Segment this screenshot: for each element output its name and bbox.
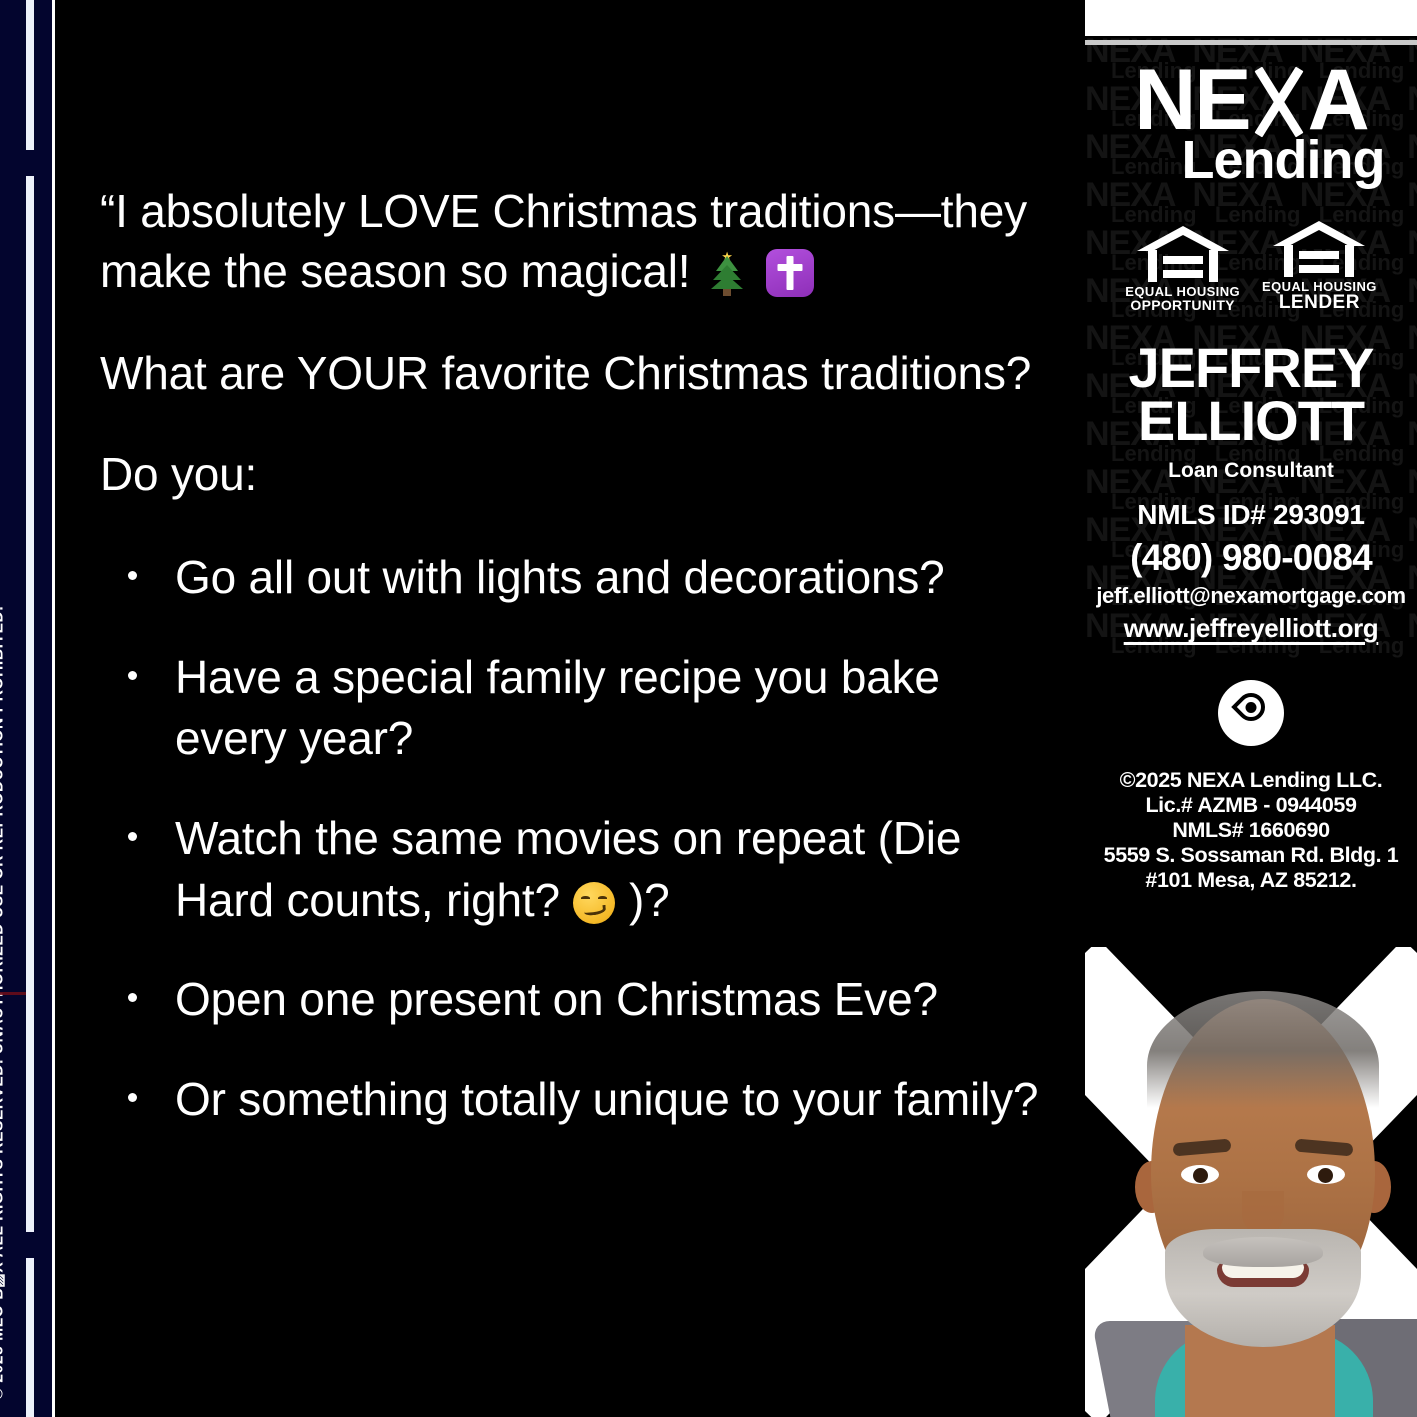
legal-line: ©2025 NEXA Lending LLC. (1085, 768, 1417, 793)
list-item: Have a special family recipe you bake ev… (100, 647, 1045, 770)
equal-housing-caption: EQUAL HOUSING OPPORTUNITY (1125, 285, 1240, 313)
logo-wordmark-ne: NE (1134, 52, 1249, 148)
eh-caption-line2: LENDER (1262, 293, 1377, 312)
cross-horizontal (777, 264, 802, 271)
copyright-text-wrap: © 2025 MLO B▨X ALL RIGHTS RESERVED. UNAU… (0, 0, 26, 1417)
location-pin-icon (1218, 680, 1284, 746)
smirk-eye-left (581, 896, 590, 900)
equal-housing-opportunity: EQUAL HOUSING OPPORTUNITY (1125, 226, 1240, 313)
post-prompt: Do you: (100, 445, 1045, 505)
list-item: Open one present on Christmas Eve? (100, 969, 1045, 1031)
legal-line: NMLS# 1660690 (1085, 818, 1417, 843)
eh-caption-line1: EQUAL HOUSING (1262, 280, 1377, 293)
logo-wordmark: NEA (1134, 62, 1368, 139)
rail-line-gap-bottom (26, 1232, 34, 1258)
agent-last-name: ELLIOTT (1085, 394, 1417, 447)
top-grey-line (1085, 40, 1417, 45)
list-item-text: Or something totally unique to your fami… (175, 1073, 1038, 1125)
list-item: Watch the same movies on repeat (Die Har… (100, 808, 1045, 931)
nexa-lending-logo: NEA Lending (1085, 62, 1417, 207)
agent-first-name: JEFFREY (1085, 341, 1417, 394)
bullet-dot-icon (128, 993, 137, 1002)
legal-block: ©2025 NEXA Lending LLC. Lic.# AZMB - 094… (1085, 768, 1417, 893)
agent-headshot (1085, 947, 1417, 1417)
list-item-text: Open one present on Christmas Eve? (175, 973, 938, 1025)
agent-nmls-id: NMLS ID# 293091 (1085, 499, 1417, 531)
tree-tier-bottom (711, 275, 743, 289)
copyright-text: © 2025 MLO B▨X ALL RIGHTS RESERVED. UNAU… (0, 605, 6, 1399)
cross-vertical (786, 256, 793, 290)
eh-equals-bottom (1299, 265, 1339, 273)
legal-line: #101 Mesa, AZ 85212. (1085, 868, 1417, 893)
eh-equals-bottom (1163, 270, 1203, 278)
tradition-options-list: Go all out with lights and decorations? … (100, 547, 1045, 1130)
list-item-text: Go all out with lights and decorations? (175, 551, 945, 603)
list-item: Or something totally unique to your fami… (100, 1069, 1045, 1131)
top-white-band (1085, 0, 1417, 36)
smirk-mouth (584, 905, 607, 916)
eh-equals-top (1163, 256, 1203, 264)
eh-caption-line2: OPPORTUNITY (1125, 298, 1240, 312)
list-item-text: Have a special family recipe you bake ev… (175, 651, 940, 765)
equal-housing-caption: EQUAL HOUSING LENDER (1262, 280, 1377, 313)
bullet-dot-icon (128, 671, 137, 680)
legal-line: Lic.# AZMB - 0944059 (1085, 793, 1417, 818)
pin-hole (1246, 702, 1257, 713)
copyright-rail: © 2025 MLO B▨X ALL RIGHTS RESERVED. UNAU… (0, 0, 55, 1417)
post-copy: “I absolutely LOVE Christmas traditions—… (100, 182, 1045, 1169)
christmas-tree-icon: ★ (705, 250, 749, 296)
post-quote: “I absolutely LOVE Christmas traditions—… (100, 182, 1045, 302)
post-quote-text: “I absolutely LOVE Christmas traditions—… (100, 185, 1027, 297)
rail-divider-line (52, 0, 55, 1417)
headshot-illustration (1107, 965, 1417, 1417)
list-item: Go all out with lights and decorations? (100, 547, 1045, 609)
smirking-face-icon (573, 882, 615, 924)
list-item-suffix: )? (629, 874, 670, 926)
equal-housing-icon (1273, 221, 1365, 277)
equal-housing-lender: EQUAL HOUSING LENDER (1262, 221, 1377, 313)
brand-content: NEA Lending EQUAL HOUSING OPPORTUNITY (1085, 62, 1417, 893)
mustache (1203, 1237, 1323, 1267)
bullet-dot-icon (128, 832, 137, 841)
eh-caption-line1: EQUAL HOUSING (1125, 285, 1240, 298)
hair (1147, 991, 1379, 1141)
tree-trunk (723, 289, 731, 296)
legal-line: 5559 S. Sossaman Rd. Bldg. 1 (1085, 843, 1417, 868)
rail-red-marker (0, 992, 26, 995)
equal-housing-row: EQUAL HOUSING OPPORTUNITY EQUAL HOUSING … (1085, 221, 1417, 313)
post-question: What are YOUR favorite Christmas traditi… (100, 344, 1045, 404)
smirk-eye-right (598, 896, 607, 900)
logo-x-icon (1250, 69, 1308, 135)
list-item-text: Watch the same movies on repeat (Die Har… (175, 812, 961, 926)
equal-housing-icon (1137, 226, 1229, 282)
agent-title: Loan Consultant (1085, 459, 1417, 483)
logo-wordmark-a: A (1308, 52, 1368, 148)
agent-website-link[interactable]: www.jeffreyelliott.org (1085, 613, 1417, 644)
latin-cross-icon (766, 249, 814, 297)
pupil-left (1193, 1168, 1208, 1183)
pupil-right (1318, 1168, 1333, 1183)
brand-panel: NEXA NEXA NEXA NEXA Lending Lending Lend… (1085, 0, 1417, 1417)
rail-accent-line (26, 0, 34, 1417)
bullet-dot-icon (128, 1093, 137, 1102)
rail-line-gap-top (26, 150, 34, 176)
agent-email-link[interactable]: jeff.elliott@nexamortgage.com (1085, 583, 1417, 609)
eh-equals-top (1299, 251, 1339, 259)
agent-phone-link[interactable]: (480) 980-0084 (1085, 537, 1417, 579)
bullet-dot-icon (128, 571, 137, 580)
